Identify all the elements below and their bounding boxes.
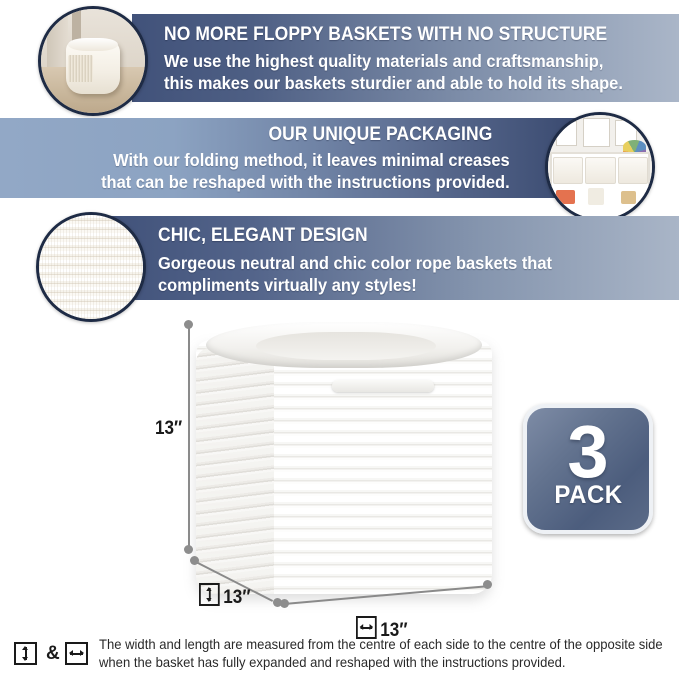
height-dimension-label: 13″ [155,418,182,440]
basket-with-tassel-photo [38,6,148,116]
feature-banner-2-title: OUR UNIQUE PACKAGING [268,124,492,146]
footnote-ampersand: & [46,643,60,665]
feature-banner-3-line2: compliments virtually any styles! [158,274,552,296]
footnote-line2: when the basket has fully expanded and r… [99,654,663,672]
feature-banner-3-body: Gorgeous neutral and chic color rope bas… [158,252,552,297]
feature-banner-1-line2: this makes our baskets sturdier and able… [164,72,623,94]
pack-count-badge: 3 PACK [523,404,653,534]
feature-banner-3-title: CHIC, ELEGANT DESIGN [158,225,368,247]
feature-banner-2: OUR UNIQUE PACKAGING With our folding me… [0,118,578,198]
depth-dimension-value: 13″ [223,587,250,608]
depth-dimension-dot-start [190,556,199,565]
basket-interior [256,332,436,360]
footnote-text: The width and length are measured from t… [99,636,663,672]
photo-books [588,188,605,206]
pack-count-number: 3 [567,422,608,483]
vertical-arrow-icon [14,642,37,665]
feature-banner-2-body: With our folding method, it leaves minim… [101,149,510,194]
photo-storage-bin [585,157,615,184]
photo-content [41,9,145,113]
photo-wall-art-2 [583,118,610,147]
pack-count-label: PACK [554,481,622,510]
feature-banner-1-title: NO MORE FLOPPY BASKETS WITH NO STRUCTURE [164,24,607,46]
feature-banner-1-body: We use the highest quality materials and… [164,50,623,95]
feature-banner-1-line1: We use the highest quality materials and… [164,50,623,72]
basket-handle [332,380,434,392]
photo-rope-grain [39,215,143,319]
photo-content [548,115,652,219]
basket-side-panel [196,348,274,594]
height-dimension-line [188,326,190,550]
photo-storage-bin [618,157,648,184]
nursery-cube-shelf-photo [545,112,655,222]
width-dimension-dot-start [280,599,289,608]
width-dimension-dot-end [483,580,492,589]
feature-banner-2-line1: With our folding method, it leaves minim… [101,149,510,171]
photo-wall-art-1 [556,121,577,146]
photo-basket-rim [68,38,118,50]
photo-door [47,9,68,69]
photo-rainbow-toy [623,140,646,154]
feature-banner-3: CHIC, ELEGANT DESIGN Gorgeous neutral an… [110,216,679,300]
photo-toy-blocks [556,190,575,205]
photo-storage-bin [553,157,583,184]
photo-teddy [621,191,637,205]
horizontal-arrow-icon [65,642,88,665]
rope-texture-closeup-photo [36,212,146,322]
feature-banner-2-line2: that can be reshaped with the instructio… [101,171,510,193]
feature-banner-3-line1: Gorgeous neutral and chic color rope bas… [158,252,552,274]
product-basket-image [196,322,492,594]
footnote-line1: The width and length are measured from t… [99,636,663,654]
vertical-arrow-icon [199,583,220,606]
feature-banner-1: NO MORE FLOPPY BASKETS WITH NO STRUCTURE… [132,14,679,102]
product-infographic: NO MORE FLOPPY BASKETS WITH NO STRUCTURE… [0,0,679,673]
photo-tassel [68,55,93,82]
depth-dimension-label: 13″ [199,583,251,609]
footnote-icons: & [14,636,92,665]
measurement-footnote: & The width and length are measured from… [14,636,669,672]
height-dimension-dot-top [184,320,193,329]
height-dimension-dot-bottom [184,545,193,554]
